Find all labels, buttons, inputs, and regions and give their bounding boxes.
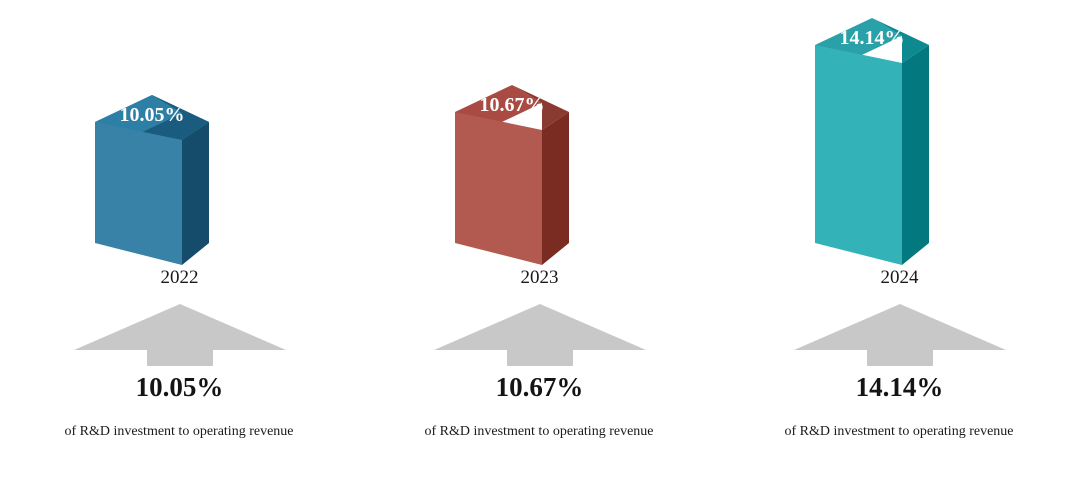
- bar-3d-2024: 14.14%: [720, 0, 1079, 270]
- bar-3d-2023-graphic: [360, 0, 719, 270]
- caption-2022: of R&D investment to operating revenue: [34, 423, 324, 442]
- year-label-2024: 2024: [720, 268, 1079, 289]
- percent-value-2024: 14.14%: [720, 373, 1079, 403]
- caption-2024: of R&D investment to operating revenue: [754, 423, 1044, 442]
- up-arrow-icon: [70, 300, 290, 366]
- bar-value-label-2024: 14.14%: [815, 28, 929, 48]
- percent-value-2022: 10.05%: [0, 373, 359, 403]
- year-label-2022: 2022: [0, 268, 359, 289]
- bar-3d-2023: 10.67%: [360, 0, 719, 270]
- up-arrow-icon: [790, 300, 1010, 366]
- up-arrow-2024: [720, 300, 1079, 372]
- up-arrow-2023: [360, 300, 719, 372]
- up-arrow-2022: [0, 300, 359, 372]
- chart-column-2022: 10.05% 2022 10.05% of R&D investment to …: [0, 0, 359, 490]
- bar-value-label-2022: 10.05%: [95, 105, 209, 125]
- chart-column-2024: 14.14% 2024 14.14% of R&D investment to …: [720, 0, 1079, 490]
- rnd-investment-infographic: 10.05% 2022 10.05% of R&D investment to …: [0, 0, 1079, 490]
- caption-2023: of R&D investment to operating revenue: [394, 423, 684, 442]
- up-arrow-icon: [430, 300, 650, 366]
- bar-3d-2022-graphic: [0, 0, 359, 270]
- bar-3d-2022: 10.05%: [0, 0, 359, 270]
- bar-value-label-2023: 10.67%: [455, 95, 569, 115]
- year-label-2023: 2023: [360, 268, 719, 289]
- percent-value-2023: 10.67%: [360, 373, 719, 403]
- chart-column-2023: 10.67% 2023 10.67% of R&D investment to …: [360, 0, 719, 490]
